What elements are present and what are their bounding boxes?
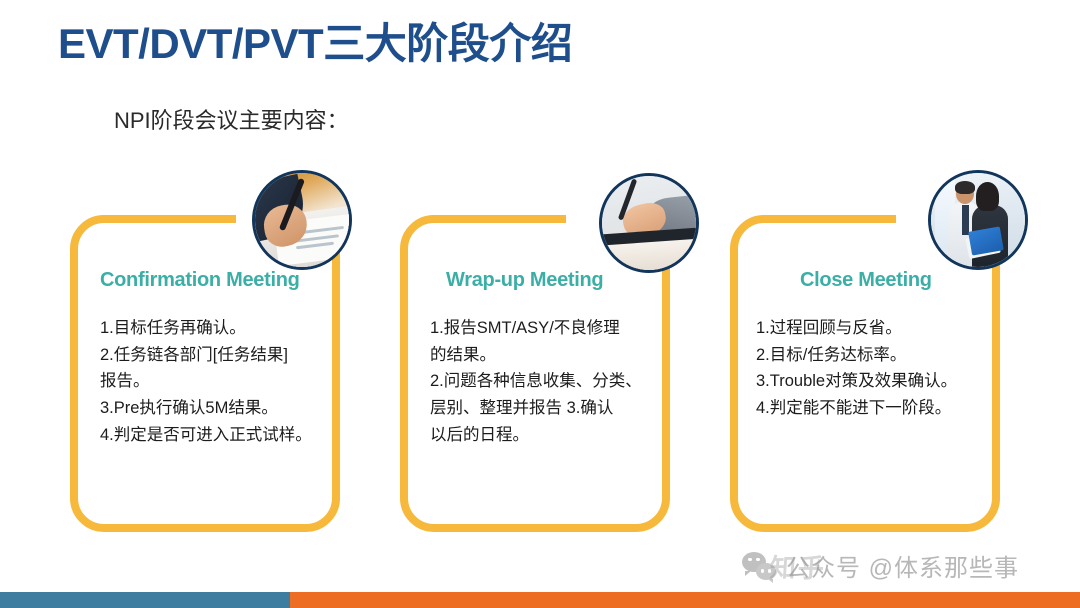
- page-title: EVT/DVT/PVT三大阶段介绍: [58, 20, 572, 68]
- slide-canvas: EVT/DVT/PVT三大阶段介绍 NPI阶段会议主要内容： Confirmat…: [0, 0, 1080, 608]
- card-body-text: 1.报告SMT/ASY/不良修理 的结果。 2.问题各种信息收集、分类、 层别、…: [430, 315, 652, 449]
- two-colleagues-with-folder-photo: [928, 170, 1028, 270]
- bottom-bar-right-segment: [290, 592, 1080, 608]
- zhihu-watermark-overlay: 知乎: [769, 548, 828, 585]
- card-body-text: 1.目标任务再确认。 2.任务链各部门[任务结果] 报告。 3.Pre执行确认5…: [100, 315, 322, 449]
- bottom-bar-left-segment: [0, 592, 290, 608]
- bottom-accent-bar: [0, 592, 1080, 608]
- card-body-text: 1.过程回顾与反省。 2.目标/任务达标率。 3.Trouble对策及效果确认。…: [756, 315, 988, 422]
- meeting-cards-row: Confirmation Meeting 1.目标任务再确认。 2.任务链各部门…: [0, 0, 1080, 608]
- hand-writing-on-notepad-photo: [599, 173, 699, 273]
- page-subtitle: NPI阶段会议主要内容：: [114, 103, 349, 135]
- hand-writing-on-documents-photo: [252, 170, 352, 270]
- card-heading: Close Meeting: [738, 269, 992, 292]
- card-heading: Confirmation Meeting: [78, 269, 332, 292]
- card-heading: Wrap-up Meeting: [408, 269, 662, 292]
